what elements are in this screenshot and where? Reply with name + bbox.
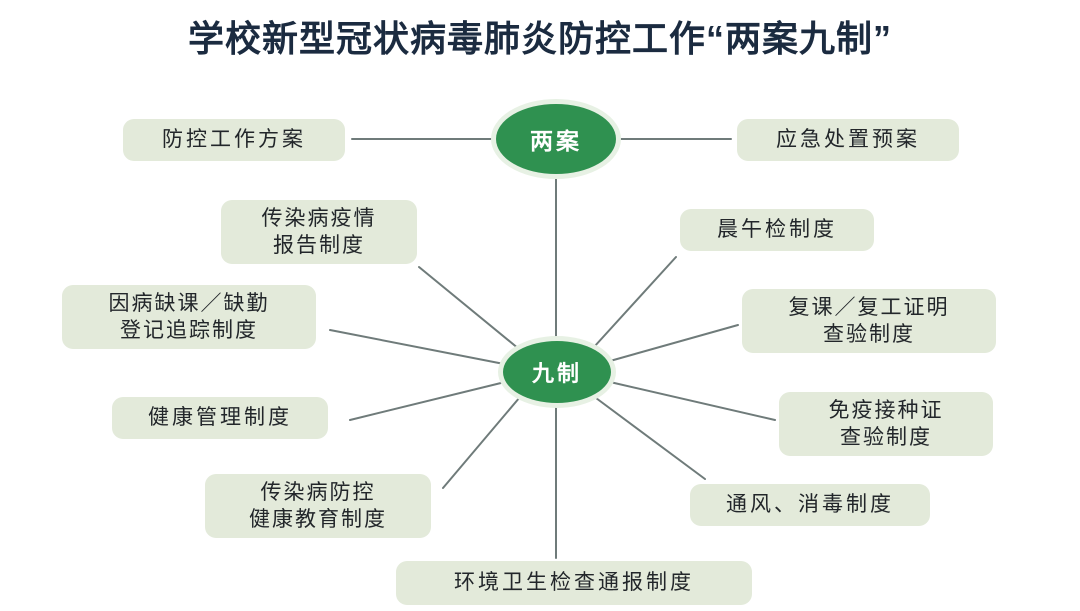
node-label-line: 登记追踪制度 [120,317,258,344]
node-huanjing-weisheng-tongbao[interactable]: 环境卫生检查通报制度 [396,561,752,605]
node-label-line: 查验制度 [823,321,915,348]
hub-jiuzhi-label: 九制 [532,356,582,388]
connector-line [610,325,738,361]
node-label-line: 免疫接种证 [829,397,944,424]
connector-line [443,397,520,488]
node-mianyi-jiezhongzheng-chayan[interactable]: 免疫接种证查验制度 [779,392,993,456]
node-chenwujian[interactable]: 晨午检制度 [680,209,874,251]
node-label-line: 传染病疫情 [262,205,377,232]
node-jiankang-guanli[interactable]: 健康管理制度 [112,397,328,439]
node-label-line: 报告制度 [273,232,365,259]
node-label-line: 传染病防控 [261,479,376,506]
node-label-line: 健康教育制度 [249,506,387,533]
node-label-line: 健康管理制度 [148,404,292,431]
hub-liangan[interactable]: 两案 [496,104,616,174]
node-label-line: 因病缺课／缺勤 [109,290,270,317]
hub-jiuzhi[interactable]: 九制 [503,341,611,403]
connector-line [330,330,504,364]
connector-line [594,257,676,347]
node-label-line: 应急处置预案 [776,126,920,153]
node-label-line: 防控工作方案 [162,126,306,153]
node-fangkong-gongzuo-fangan[interactable]: 防控工作方案 [123,119,345,161]
connector-line [596,398,705,479]
node-chuanranbing-yiqing-baogao[interactable]: 传染病疫情报告制度 [221,200,417,264]
node-label-line: 复课／复工证明 [789,294,950,321]
node-yinbing-quewke-dengji[interactable]: 因病缺课／缺勤登记追踪制度 [62,285,316,349]
hub-liangan-label: 两案 [530,122,582,156]
node-label-line: 通风、消毒制度 [726,491,894,518]
connector-line [419,267,519,349]
connector-line [610,382,775,420]
node-label-line: 查验制度 [840,424,932,451]
node-fuke-fugong-chayan[interactable]: 复课／复工证明查验制度 [742,289,996,353]
node-chuanranbing-jiankang-jiaoyu[interactable]: 传染病防控健康教育制度 [205,474,431,538]
diagram-canvas: 学校新型冠状病毒肺炎防控工作“两案九制” 两案 九制 防控工作方案应急处置预案传… [0,0,1080,611]
connector-line [350,382,505,420]
node-label-line: 环境卫生检查通报制度 [454,569,694,596]
node-tongfeng-xiaodu[interactable]: 通风、消毒制度 [690,484,930,526]
node-label-line: 晨午检制度 [717,216,837,243]
node-yingji-chuzhi-yuan[interactable]: 应急处置预案 [737,119,959,161]
